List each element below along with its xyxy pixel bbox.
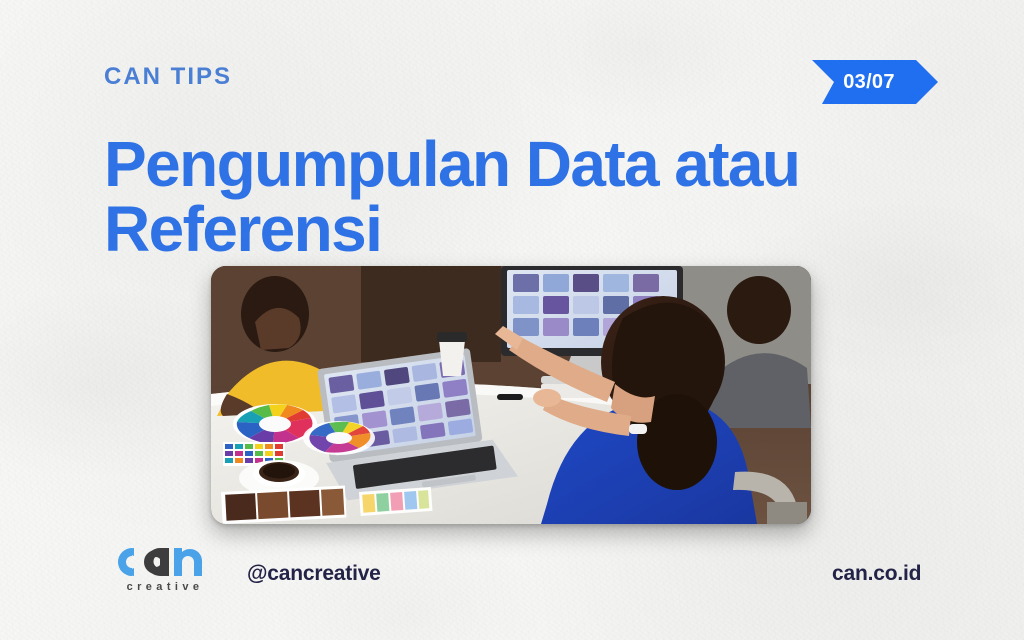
page-title: Pengumpulan Data atau Referensi bbox=[104, 132, 934, 263]
hero-photo bbox=[211, 266, 811, 524]
page-title-line-1: Pengumpulan Data atau bbox=[104, 128, 799, 200]
page-indicator-badge: 03/07 bbox=[812, 58, 944, 106]
logo-tagline: creative bbox=[112, 581, 218, 593]
slide-canvas: CAN TIPS 03/07 Pengumpulan Data atau Ref… bbox=[0, 0, 1024, 640]
can-logo-icon bbox=[104, 538, 222, 586]
website-url[interactable]: can.co.id bbox=[832, 562, 921, 586]
page-title-line-2: Referensi bbox=[104, 197, 934, 262]
social-handle[interactable]: @cancreative bbox=[247, 562, 381, 586]
brand-logo: creative bbox=[104, 538, 222, 600]
badge-arrow-icon bbox=[812, 58, 944, 106]
eyebrow-label: CAN TIPS bbox=[104, 63, 232, 91]
hero-photo-illustration bbox=[211, 266, 811, 524]
